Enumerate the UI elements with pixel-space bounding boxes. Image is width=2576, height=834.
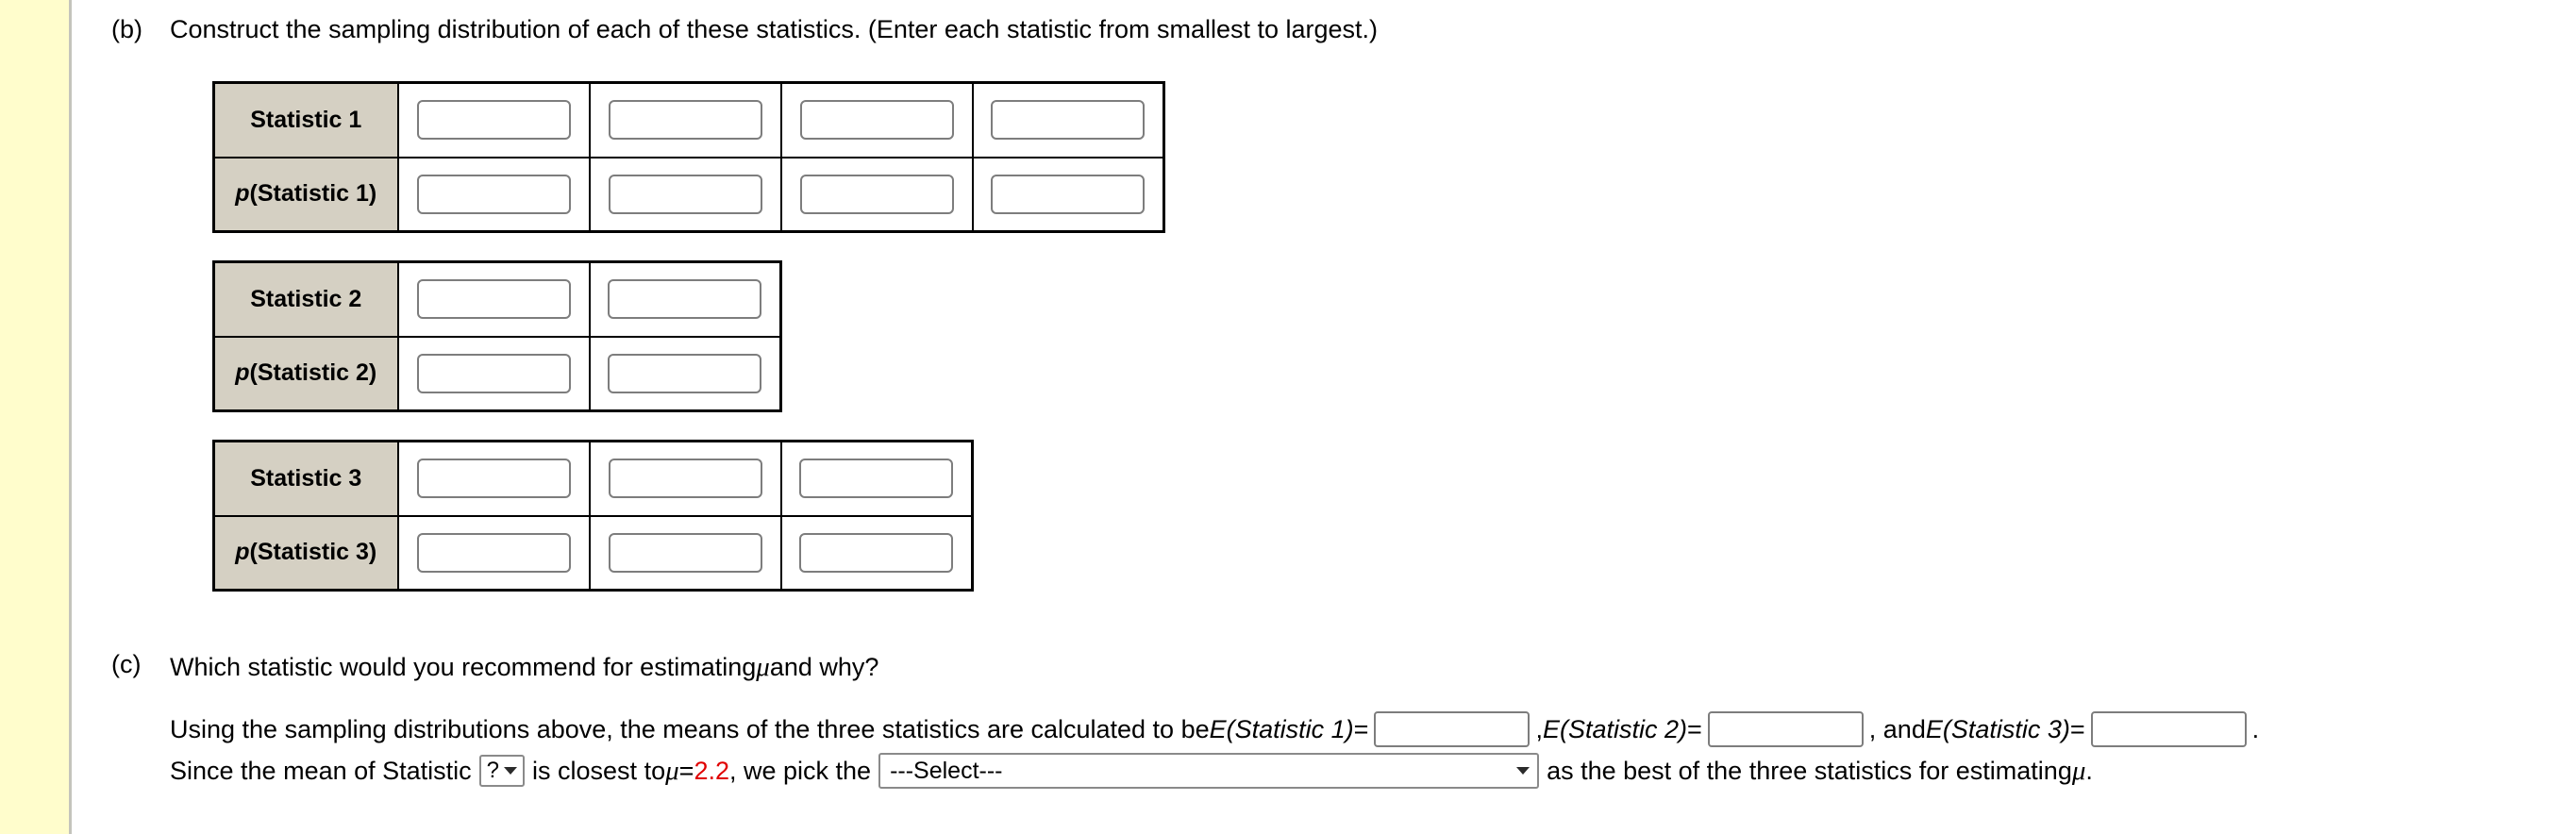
table-row: Statistic 1 <box>214 83 1164 158</box>
statistic-2-table: Statistic 2 p(Statistic 2) <box>212 260 782 412</box>
statistic-1-input-4[interactable] <box>991 100 1145 140</box>
table-row: p(Statistic 1) <box>214 158 1164 232</box>
statistic-3-input-3[interactable] <box>799 459 953 498</box>
mu-symbol: μ <box>2072 752 2086 790</box>
row-header-label: Statistic 1 <box>250 107 361 133</box>
part-c: (c) Which statistic would you recommend … <box>111 648 2259 790</box>
best-statistic-select[interactable]: ---Select--- <box>878 753 1539 789</box>
row-header-label: Statistic 2 <box>250 286 361 312</box>
p-statistic-2-value-cell-1 <box>398 337 590 411</box>
part-b-body: Construct the sampling distribution of e… <box>170 13 1378 45</box>
statistic-number-select-value: ? <box>487 752 499 790</box>
separator-2: , and <box>1869 710 1926 748</box>
row-header-label: (Statistic 1) <box>250 180 377 207</box>
p-statistic-3-value-cell-2 <box>590 516 781 591</box>
part-c-question: Which statistic would you recommend for … <box>170 648 2259 686</box>
p-statistic-3-input-2[interactable] <box>609 533 762 573</box>
statistic-3-value-cell-3 <box>781 442 973 516</box>
p-statistic-1-input-3[interactable] <box>800 175 954 214</box>
question-content: (b) Construct the sampling distribution … <box>75 0 2576 834</box>
table-row: Statistic 3 <box>214 442 973 516</box>
table-row: Statistic 2 <box>214 262 781 337</box>
row-header-p-statistic-1: p(Statistic 1) <box>214 158 398 232</box>
p-statistic-1-value-cell-4 <box>973 158 1164 232</box>
part-c-label: (c) <box>111 648 170 680</box>
statistic-3-table: Statistic 3 p(Statistic 3) <box>212 440 974 592</box>
row-header-p-statistic-2: p(Statistic 2) <box>214 337 398 411</box>
means-sentence: Using the sampling distributions above, … <box>170 710 2259 748</box>
p-statistic-1-value-cell-1 <box>398 158 590 232</box>
e-statistic-3-label: E(Statistic 3) <box>1926 710 2070 748</box>
p-statistic-1-input-1[interactable] <box>417 175 571 214</box>
mu-symbol: μ <box>665 752 679 790</box>
statistic-3-input-1[interactable] <box>417 459 571 498</box>
e-statistic-1-input[interactable] <box>1374 711 1530 747</box>
conclusion-mid: is closest to <box>532 752 665 790</box>
best-statistic-select-value: ---Select--- <box>890 752 1002 790</box>
part-b: (b) Construct the sampling distribution … <box>111 13 1378 45</box>
statistic-3-input-2[interactable] <box>609 459 762 498</box>
p-statistic-3-value-cell-3 <box>781 516 973 591</box>
conclusion-sentence: Since the mean of Statistic ? is closest… <box>170 752 2259 790</box>
part-c-body: Which statistic would you recommend for … <box>170 648 2259 790</box>
row-header-label: (Statistic 2) <box>250 359 377 386</box>
conclusion-period: . <box>2085 752 2093 790</box>
p-statistic-3-value-cell-1 <box>398 516 590 591</box>
conclusion-equals: = <box>679 752 694 790</box>
statistic-1-value-cell-1 <box>398 83 590 158</box>
conclusion-lead: Since the mean of Statistic <box>170 752 472 790</box>
chevron-down-icon <box>504 767 517 775</box>
equals-2: = <box>1687 710 1702 748</box>
part-b-prompt: Construct the sampling distribution of e… <box>170 13 1378 45</box>
statistic-1-input-3[interactable] <box>800 100 954 140</box>
statistic-1-table: Statistic 1 p(Statistic 1) <box>212 81 1165 233</box>
p-statistic-3-input-3[interactable] <box>799 533 953 573</box>
statistic-1-input-2[interactable] <box>609 100 762 140</box>
row-header-label: (Statistic 3) <box>250 539 377 565</box>
p-statistic-1-input-4[interactable] <box>991 175 1145 214</box>
part-c-question-post: and why? <box>770 648 879 686</box>
row-header-statistic-2: Statistic 2 <box>214 262 398 337</box>
statistic-1-value-cell-4 <box>973 83 1164 158</box>
equals-1: = <box>1354 710 1369 748</box>
p-statistic-1-input-2[interactable] <box>609 175 762 214</box>
chevron-down-icon <box>1516 767 1530 775</box>
row-header-label: Statistic 3 <box>250 465 361 492</box>
p-statistic-3-input-1[interactable] <box>417 533 571 573</box>
statistic-2-value-cell-2 <box>590 262 781 337</box>
row-header-p-prefix: p <box>235 359 249 386</box>
statistic-1-value-cell-2 <box>590 83 781 158</box>
table-row: p(Statistic 3) <box>214 516 973 591</box>
statistic-3-value-cell-2 <box>590 442 781 516</box>
separator-1: , <box>1535 710 1543 748</box>
p-statistic-1-value-cell-3 <box>781 158 973 232</box>
p-statistic-1-value-cell-2 <box>590 158 781 232</box>
statistic-1-value-cell-3 <box>781 83 973 158</box>
statistic-2-input-1[interactable] <box>417 279 571 319</box>
part-b-label: (b) <box>111 13 170 45</box>
means-sentence-lead: Using the sampling distributions above, … <box>170 710 1210 748</box>
table-row: p(Statistic 2) <box>214 337 781 411</box>
statistic-1-input-1[interactable] <box>417 100 571 140</box>
statistic-3-value-cell-1 <box>398 442 590 516</box>
statistic-2-input-2[interactable] <box>608 279 761 319</box>
conclusion-after-value: , we pick the <box>729 752 871 790</box>
e-statistic-1-label: E(Statistic 1) <box>1210 710 1354 748</box>
part-c-question-pre: Which statistic would you recommend for … <box>170 648 756 686</box>
mu-value: 2.2 <box>694 752 729 790</box>
statistic-number-select[interactable]: ? <box>479 755 525 787</box>
conclusion-tail: as the best of the three statistics for … <box>1547 752 2072 790</box>
p-statistic-2-input-1[interactable] <box>417 354 571 393</box>
row-header-statistic-1: Statistic 1 <box>214 83 398 158</box>
row-header-statistic-3: Statistic 3 <box>214 442 398 516</box>
e-statistic-3-input[interactable] <box>2091 711 2247 747</box>
equals-3: = <box>2070 710 2085 748</box>
mu-symbol: μ <box>756 648 770 686</box>
row-header-p-prefix: p <box>235 539 249 565</box>
statistic-2-value-cell-1 <box>398 262 590 337</box>
p-statistic-2-value-cell-2 <box>590 337 781 411</box>
e-statistic-2-label: E(Statistic 2) <box>1543 710 1687 748</box>
period-1: . <box>2252 710 2260 748</box>
left-gutter-strip <box>0 0 72 834</box>
p-statistic-2-input-2[interactable] <box>608 354 761 393</box>
row-header-p-statistic-3: p(Statistic 3) <box>214 516 398 591</box>
row-header-p-prefix: p <box>235 180 249 207</box>
e-statistic-2-input[interactable] <box>1708 711 1864 747</box>
